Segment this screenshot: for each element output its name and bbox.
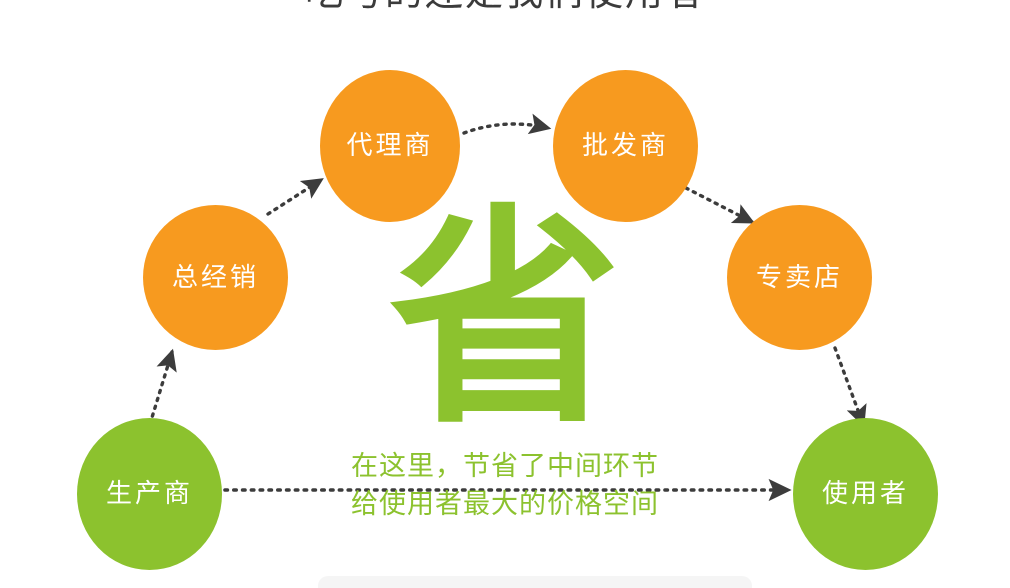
node-label-shiyongzhe: 使用者 — [822, 481, 909, 507]
arrow-zhuanmaidian-to-shiyongzhe — [835, 348, 863, 424]
node-dailishang[interactable]: 代理商 — [320, 70, 460, 222]
node-label-zhuanmaidian: 专卖店 — [756, 265, 843, 291]
arrow-shengchan-to-zongjingxiao — [150, 352, 172, 424]
caption-line-1: 在这里，节省了中间环节 — [300, 448, 710, 486]
page-title: 吃亏的还是我们使用者 — [0, 0, 1010, 14]
node-label-pifashang: 批发商 — [582, 133, 669, 159]
infographic-canvas: 吃亏的还是我们使用者 省 总经销 代理商 批发商 专卖店 生 — [0, 0, 1010, 588]
node-shiyongzhe[interactable]: 使用者 — [793, 418, 938, 570]
node-label-zongjingxiao: 总经销 — [172, 265, 259, 291]
node-shengchanshang[interactable]: 生产商 — [77, 418, 222, 570]
node-zhuanmaidian[interactable]: 专卖店 — [727, 205, 872, 350]
node-zongjingxiao[interactable]: 总经销 — [143, 205, 288, 350]
bottom-panel — [318, 576, 752, 588]
arrow-zongjingxiao-to-dailishang — [268, 180, 321, 214]
arrow-pifashang-to-zhuanmaidian — [686, 188, 752, 222]
node-pifashang[interactable]: 批发商 — [553, 70, 698, 222]
center-save-glyph: 省 — [390, 205, 620, 435]
node-label-dailishang: 代理商 — [346, 133, 433, 159]
caption-block: 在这里，节省了中间环节 给使用者最大的价格空间 — [300, 448, 710, 524]
caption-line-2: 给使用者最大的价格空间 — [300, 486, 710, 524]
arrow-dailishang-to-pifashang — [464, 124, 548, 133]
node-label-shengchanshang: 生产商 — [106, 481, 193, 507]
